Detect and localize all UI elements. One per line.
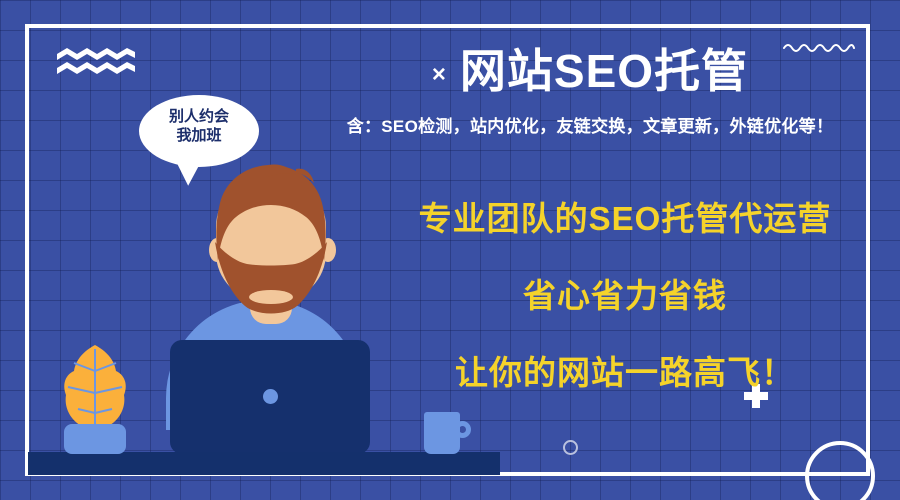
desk	[28, 452, 500, 475]
speech-bubble-line-2: 我加班	[139, 127, 259, 146]
character-hair-icon	[210, 163, 332, 273]
illustration-group: 别人约会 我加班	[0, 0, 520, 500]
speech-bubble: 别人约会 我加班	[139, 95, 259, 167]
corner-circle-outline-icon	[805, 441, 875, 500]
plant-leaf-icon	[62, 345, 128, 431]
small-circle-outline-icon	[563, 440, 578, 455]
seo-promo-banner: × 网站SEO托管 含：SEO检测，站内优化，友链交换，文章更新，外链优化等！ …	[0, 0, 900, 500]
laptop-logo-dot-icon	[263, 389, 278, 404]
speech-bubble-line-1: 别人约会	[139, 108, 259, 127]
coffee-mug	[424, 412, 460, 454]
plant-pot	[64, 424, 126, 454]
